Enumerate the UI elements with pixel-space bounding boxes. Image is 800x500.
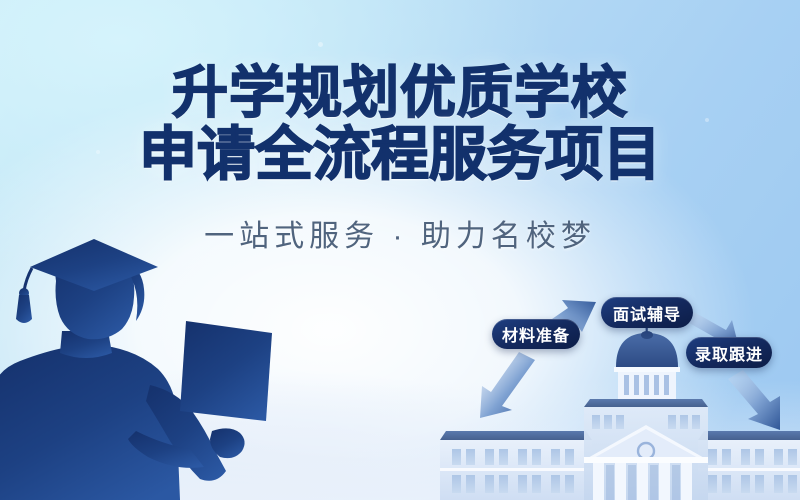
flow-step-label: 材料准备 [502, 322, 570, 346]
flow-arrow-layer [0, 0, 800, 500]
flow-step-materials[interactable]: 材料准备 [492, 319, 580, 349]
flow-step-interview[interactable]: 面试辅导 [601, 297, 693, 328]
flow-step-admission[interactable]: 录取跟进 [686, 337, 772, 368]
arrow-down-right-end-icon [728, 370, 780, 430]
flow-step-label: 面试辅导 [613, 301, 681, 325]
promo-banner: 升学规划优质学校 申请全流程服务项目 一站式服务 · 助力名校梦 材料准备 面试… [0, 0, 800, 500]
flow-step-label: 录取跟进 [695, 341, 763, 365]
arrow-down-left-icon [480, 352, 535, 418]
